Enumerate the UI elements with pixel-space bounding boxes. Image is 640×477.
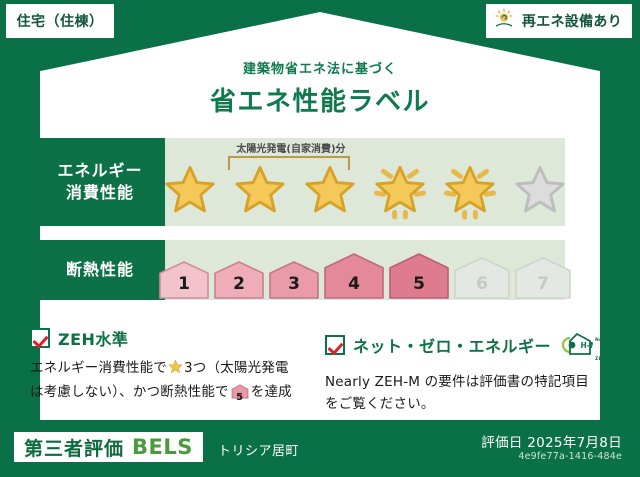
check-icon xyxy=(325,335,345,355)
criterion-net-zero-energy: ネット・ゼロ・エネルギー H-M Nearly ZEH-M Nearly ZEH… xyxy=(325,326,590,416)
criterion-zeh-header: ZEH水準 xyxy=(30,326,315,350)
renewable-energy-badge: 再エネ設備あり xyxy=(486,4,632,38)
bels-jp-label: 第三者評価 xyxy=(24,434,124,461)
label-footer: 第三者評価 BELS トリシア居町 評価日 2025年7月8日 4e9fe77a… xyxy=(0,420,640,477)
insulation-grade-5: 5 xyxy=(388,252,450,300)
insulation-grade-1: 1 xyxy=(158,260,210,300)
grade-number: 3 xyxy=(268,274,320,294)
energy-star-rating: 太陽光発電(自家消費)分 xyxy=(165,138,565,226)
energy-performance-label: エネルギー 消費性能 xyxy=(35,138,165,226)
criterion-zeh-standard: ZEH水準 エネルギー消費性能で3つ（太陽光発電 は考慮しない）、かつ断熱性能で… xyxy=(30,326,315,407)
title-main: 省エネ性能ラベル xyxy=(0,81,640,118)
insulation-grade-7: 7 xyxy=(514,256,572,300)
inline-grade-badge: 5 xyxy=(231,384,249,406)
criterion-nze-header: ネット・ゼロ・エネルギー H-M Nearly ZEH-M xyxy=(325,326,590,364)
building-type-label: 住宅（住棟） xyxy=(17,11,104,31)
insulation-performance-row: 断熱性能 1234567 xyxy=(35,240,565,300)
insulation-grade-3: 3 xyxy=(268,260,320,300)
energy-label-root: 住宅（住棟） 再エネ設備あり 建築物省エネ法に基づく 省エネ性能ラベル xyxy=(0,0,640,477)
insulation-grade-6: 6 xyxy=(453,256,511,300)
criterion-zeh-body: エネルギー消費性能で3つ（太陽光発電 は考慮しない）、かつ断熱性能で5を達成 xyxy=(30,357,315,407)
solar-annotation-label: 太陽光発電(自家消費)分 xyxy=(201,140,381,155)
renewable-energy-label: 再エネ設備あり xyxy=(522,11,622,31)
grade-number: 2 xyxy=(213,274,265,294)
bels-en-label: BELS xyxy=(132,435,193,459)
evaluation-id: 4e9fe77a-1416-484e xyxy=(518,451,622,462)
star-1 xyxy=(158,160,222,222)
label-title: 建築物省エネ法に基づく 省エネ性能ラベル xyxy=(0,58,640,118)
star-5 xyxy=(438,160,502,222)
grade-number: 7 xyxy=(514,274,572,294)
evaluation-date: 評価日 2025年7月8日 xyxy=(481,431,622,451)
title-subtitle: 建築物省エネ法に基づく xyxy=(0,58,640,77)
energy-performance-row: エネルギー 消費性能 太陽光発電(自家消費)分 xyxy=(35,138,565,226)
zeh-m-logo-subtext: Nearly ZEH-M xyxy=(595,326,613,364)
criterion-nze-body: Nearly ZEH-M の要件は評価書の特記項目をご覧ください。 xyxy=(325,371,590,416)
grade-number: 1 xyxy=(158,274,210,294)
insulation-grade-scale: 1234567 xyxy=(165,240,565,300)
zeh-m-logo: H-M Nearly ZEH-M xyxy=(559,326,613,364)
inline-star-icon xyxy=(168,359,183,381)
solar-bracket xyxy=(228,156,350,170)
grade-number: 5 xyxy=(388,274,450,294)
insulation-grade-4: 4 xyxy=(323,252,385,300)
building-name: トリシア居町 xyxy=(218,440,299,459)
criterion-nze-title: ネット・ゼロ・エネルギー xyxy=(353,333,551,357)
svg-text:H-M: H-M xyxy=(581,341,594,350)
insulation-performance-label: 断熱性能 xyxy=(35,240,165,300)
grade-number: 4 xyxy=(323,274,385,294)
criterion-zeh-title: ZEH水準 xyxy=(58,326,128,350)
solar-sun-icon xyxy=(493,8,517,34)
bels-badge: 第三者評価 BELS xyxy=(14,432,203,462)
star-4 xyxy=(368,160,432,222)
star-6 xyxy=(508,160,572,222)
insulation-grade-list: 1234567 xyxy=(165,252,565,300)
star-list xyxy=(165,160,565,222)
insulation-grade-2: 2 xyxy=(213,260,265,300)
check-icon xyxy=(30,328,50,348)
building-type-badge: 住宅（住棟） xyxy=(6,4,114,38)
grade-number: 6 xyxy=(453,274,511,294)
